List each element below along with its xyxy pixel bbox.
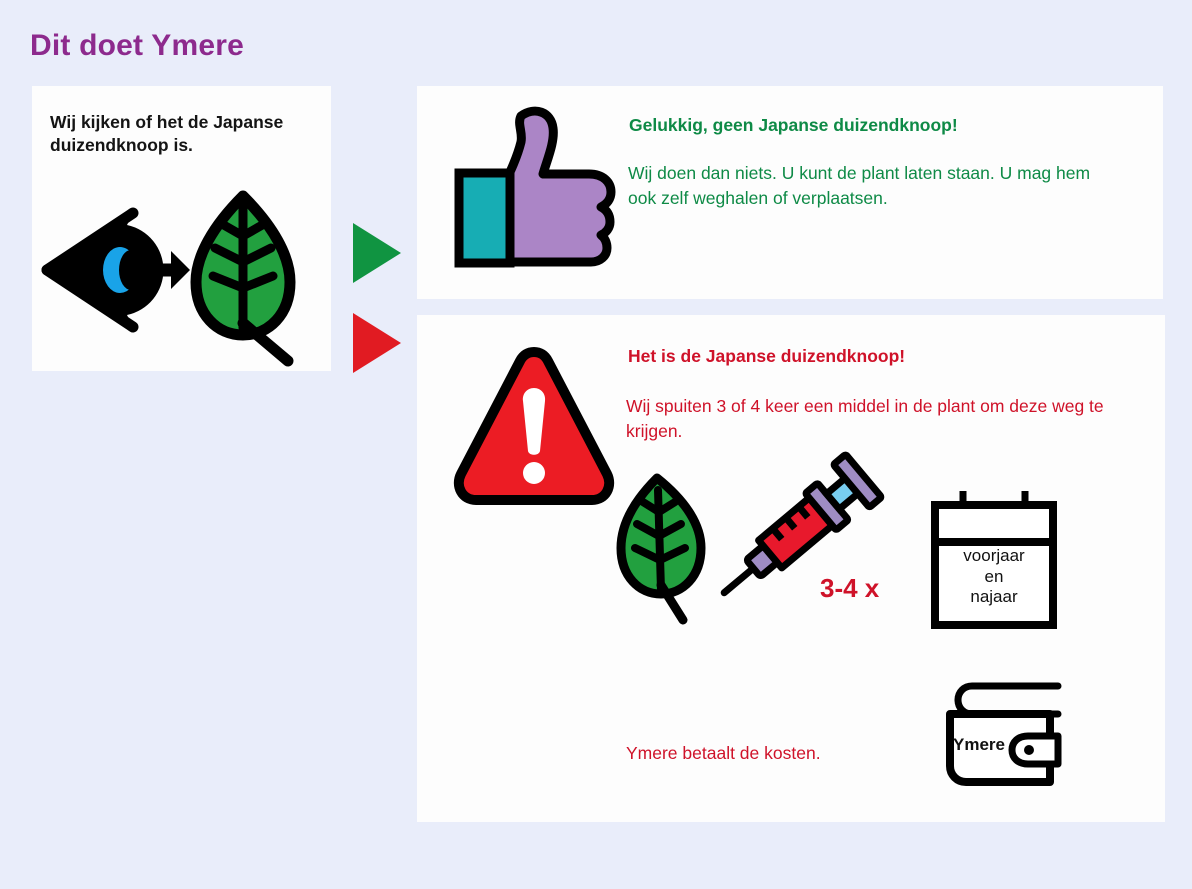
green-play-arrow: [353, 223, 401, 283]
alert-panel-card: Het is de Japanse duizendknoop! Wij spui…: [417, 315, 1165, 822]
wallet-brand-label: Ymere: [953, 735, 1005, 755]
check-card-text: Wij kijken of het de Japanse duizendknoo…: [50, 111, 315, 158]
alert-heading: Het is de Japanse duizendknoop!: [628, 345, 1148, 368]
infographic-page: Dit doet Ymere Wij kijken of het de Japa…: [0, 0, 1192, 889]
check-card: Wij kijken of het de Japanse duizendknoo…: [32, 86, 331, 371]
warning-triangle-icon: [449, 340, 619, 515]
ok-panel-card: Gelukkig, geen Japanse duizendknoop! Wij…: [417, 86, 1163, 299]
calendar-season-text: voorjaar en najaar: [933, 546, 1055, 608]
wallet-icon: [936, 678, 1071, 788]
thumbs-up-icon: [443, 98, 623, 273]
check-icons-group: [38, 178, 328, 363]
eye-icon: [47, 213, 163, 327]
leaf-icon: [621, 478, 701, 620]
cost-label: Ymere betaalt de kosten.: [626, 743, 821, 764]
ok-heading: Gelukkig, geen Japanse duizendknoop!: [629, 114, 1129, 137]
red-play-arrow: [353, 313, 401, 373]
ok-body-text: Wij doen dan niets. U kunt de plant late…: [628, 161, 1108, 211]
calendar-line-2: en: [933, 567, 1055, 588]
leaf-magnifier-icon: [196, 196, 290, 361]
treatment-count-label: 3-4 x: [820, 573, 879, 604]
page-title: Dit doet Ymere: [30, 29, 244, 63]
alert-body-text: Wij spuiten 3 of 4 keer een middel in de…: [626, 394, 1146, 444]
calendar-line-3: najaar: [933, 587, 1055, 608]
syringe-leaf-icon: [617, 450, 907, 640]
calendar-line-1: voorjaar: [933, 546, 1055, 567]
